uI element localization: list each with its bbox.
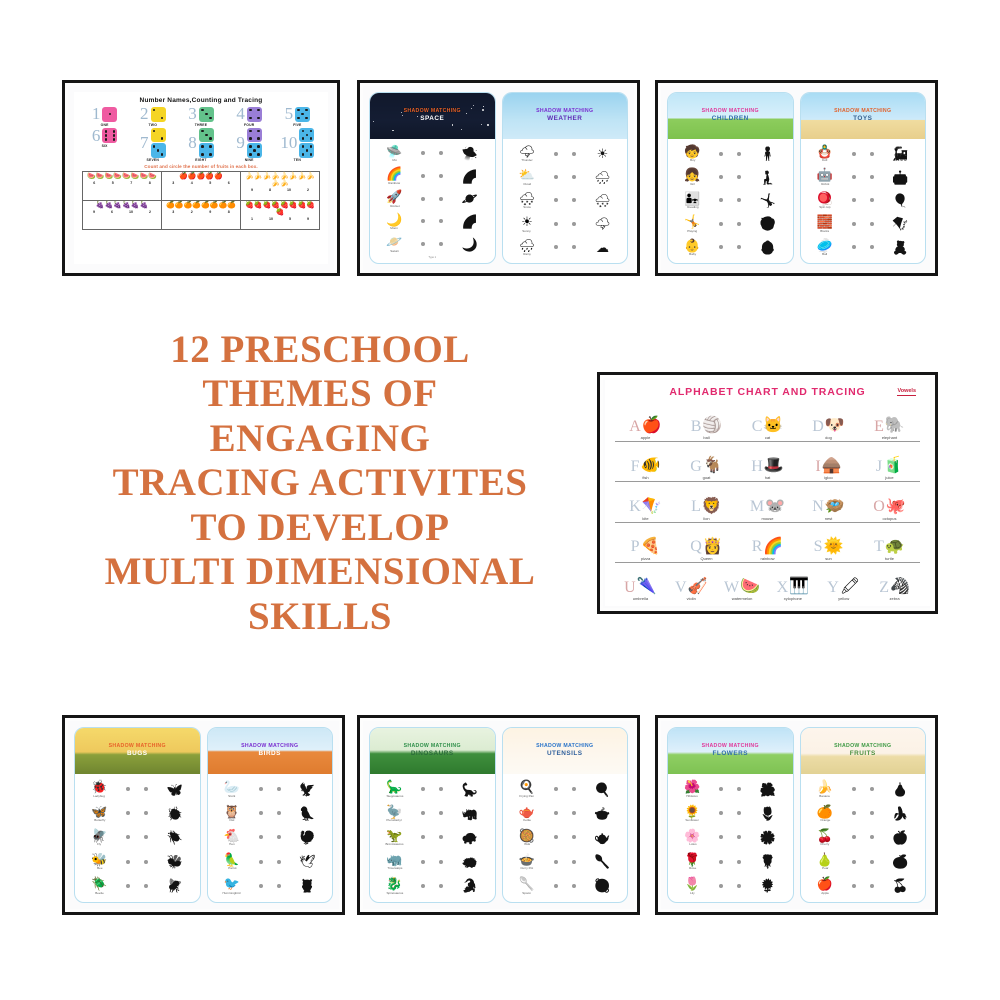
connect-dot-left[interactable] [421,835,425,839]
picture-cell[interactable]: 🥄Spoon [508,877,547,895]
picture-cell[interactable]: 🦕Stegosaurus [375,780,414,798]
shadow-cell[interactable]: 🪐 [451,192,490,205]
alphabet-item-m[interactable]: M🐭mouse [737,499,798,521]
counting-options[interactable]: 3298 [164,210,238,214]
trace-letter[interactable]: O [873,500,885,514]
connect-dot-left[interactable] [259,787,263,791]
matching-row[interactable]: 🥘Wok🫖 [508,826,623,849]
counting-option[interactable]: 6 [111,210,113,214]
picture-cell[interactable]: 🌩Thunder [508,145,547,163]
picture-cell[interactable]: 🌙Moon [375,213,414,231]
connect-dot-left[interactable] [554,222,558,226]
connect-dot-left[interactable] [719,884,723,888]
trace-letter[interactable]: K [629,500,641,514]
connect-dot-left[interactable] [259,860,263,864]
trace-letter[interactable]: X [777,581,789,595]
counting-option[interactable]: 9 [209,210,211,214]
trace-letter[interactable]: T [874,540,884,554]
connect-dot-left[interactable] [719,787,723,791]
matching-row[interactable]: 🧱Blocks🪁 [806,213,921,235]
matching-row[interactable]: 🌺Hibiscus🌺 [673,778,788,801]
matching-row[interactable]: 🥏Ball🧸 [806,236,921,258]
shadow-cell[interactable]: 🌩 [583,217,622,230]
matching-row[interactable]: 🌹Rose🌹 [673,850,788,873]
connect-dot-right[interactable] [572,222,576,226]
connect-dot-right[interactable] [572,884,576,888]
shadow-cell[interactable]: 🦉 [288,879,327,892]
connect-dot-left[interactable] [852,175,856,179]
connect-dot-left[interactable] [852,884,856,888]
picture-cell[interactable]: 🍒Cherry [806,829,845,847]
counting-box-apple[interactable]: 🍎🍎🍎🍎🍎3456 [162,172,241,201]
picture-cell[interactable]: 🪆Doll [806,145,845,163]
shadow-cell[interactable]: 🌈 [451,170,490,183]
shadow-cell[interactable]: 🦏 [451,807,490,820]
matching-row[interactable]: 🐉Spinosaurus🐊 [375,874,490,897]
shadow-cell[interactable]: 🛸 [451,147,490,160]
shadow-cell[interactable]: ☀ [583,147,622,160]
picture-cell[interactable]: 🦖Brontosaurus [375,829,414,847]
connect-dot-left[interactable] [554,198,558,202]
picture-cell[interactable]: 🛸Ufo [375,145,414,163]
connect-dot-left[interactable] [852,198,856,202]
connect-dot-left[interactable] [719,245,723,249]
trace-letter[interactable]: A [629,420,641,434]
connect-dot-right[interactable] [277,787,281,791]
connect-dot-right[interactable] [439,219,443,223]
matching-row[interactable]: 🐝Bee🐝 [80,850,195,873]
picture-cell[interactable]: 👧Girl [673,168,712,186]
matching-row[interactable]: 🦖Brontosaurus🐢 [375,826,490,849]
connect-dot-right[interactable] [439,835,443,839]
connect-dot-right[interactable] [439,860,443,864]
alphabet-item-y[interactable]: Y🖍yellow [818,579,869,601]
connect-dot-left[interactable] [719,222,723,226]
alphabet-item-d[interactable]: D🐶dog [798,418,859,440]
connect-dot-right[interactable] [572,152,576,156]
shadow-cell[interactable]: 🧍 [749,147,788,160]
connect-dot-right[interactable] [737,884,741,888]
connect-dot-right[interactable] [439,151,443,155]
matching-row[interactable]: 🌨Snow🌨 [508,189,623,211]
connect-dot-left[interactable] [421,151,425,155]
shadow-cell[interactable]: 🦜 [288,807,327,820]
connect-dot-left[interactable] [421,242,425,246]
shadow-cell[interactable]: 🍲 [583,807,622,820]
connect-dot-right[interactable] [870,245,874,249]
counting-box-banana[interactable]: 🍌🍌🍌🍌🍌🍌🍌🍌🍌🍌98102 [241,172,320,201]
picture-cell[interactable]: 🌺Hibiscus [673,780,712,798]
shadow-cell[interactable]: 🌹 [749,855,788,868]
picture-cell[interactable]: 👨‍👧Reading [673,192,712,210]
matching-row[interactable]: ⛅Cloud🌧 [508,166,623,188]
trace-letter[interactable]: F [631,460,640,474]
picture-cell[interactable]: 🪰Fly [80,829,119,847]
trace-letter[interactable]: L [691,500,701,514]
picture-cell[interactable]: 🌈Rainbow [375,167,414,185]
connect-dot-right[interactable] [737,245,741,249]
counting-option[interactable]: 5 [289,217,291,221]
shadow-cell[interactable]: 🧎 [749,171,788,184]
matching-row[interactable]: 🐦Hummingbird🦉 [213,874,328,897]
connect-dot-left[interactable] [852,860,856,864]
connect-dot-left[interactable] [421,219,425,223]
counting-options[interactable]: 96102 [85,210,159,214]
alphabet-item-o[interactable]: O🐙octopus [859,499,920,521]
counting-option[interactable]: 6 [228,181,230,185]
picture-cell[interactable]: 🍌Banana [806,780,845,798]
shadow-cell[interactable]: 🍐 [881,783,920,796]
alphabet-item-u[interactable]: U🌂umbrella [615,579,666,601]
picture-cell[interactable]: 🌷Lily [673,877,712,895]
picture-cell[interactable]: 🌹Rose [673,853,712,871]
picture-cell[interactable]: 🥘Wok [508,829,547,847]
picture-cell[interactable]: 🐝Bee [80,853,119,871]
shadow-cell[interactable]: 🪲 [156,831,195,844]
shadow-cell[interactable]: 🌈 [451,215,490,228]
matching-row[interactable]: 🛸Ufo🛸 [375,142,490,164]
connect-dot-left[interactable] [554,245,558,249]
trace-letter[interactable]: E [874,420,884,434]
counting-option[interactable]: 1 [251,217,253,221]
counting-option[interactable]: 9 [307,217,309,221]
number-cell-four[interactable]: 4FOUR [227,106,272,127]
shadow-cell[interactable]: 🥘 [583,879,622,892]
matching-row[interactable]: 🚀Rocket🪐 [375,188,490,210]
connect-dot-left[interactable] [421,197,425,201]
counting-option[interactable]: 7 [130,181,132,185]
matching-row[interactable]: 🪐Saturn🌙 [375,233,490,255]
connect-dot-right[interactable] [737,175,741,179]
shadow-cell[interactable]: 🐝 [156,855,195,868]
worksheet-birds[interactable]: SHADOW MATCHINGBIRDS🦢Stork🦅🦉Owl🦜🐔Hen🦃🦜Pa… [207,727,334,903]
connect-dot-right[interactable] [870,860,874,864]
shadow-cell[interactable]: 🚂 [881,147,920,160]
connect-dot-left[interactable] [852,835,856,839]
picture-cell[interactable]: 🪲Beetle [80,877,119,895]
picture-cell[interactable]: ⛅Cloud [508,168,547,186]
matching-row[interactable]: 🍳Frying Pan🍳 [508,778,623,801]
picture-cell[interactable]: 🦉Owl [213,805,252,823]
worksheet-dinosaurs[interactable]: SHADOW MATCHINGDINOSAURS🦕Stegosaurus🦕🦤Pt… [369,727,496,903]
matching-row[interactable]: ☀Sunny🌩 [508,213,623,235]
shadow-cell[interactable]: 🧒 [749,217,788,230]
counting-options[interactable]: 3456 [164,181,238,185]
counting-option[interactable]: 3 [172,181,174,185]
trace-letter[interactable]: P [631,540,640,554]
picture-cell[interactable]: 🌻Sunflower [673,805,712,823]
connect-dot-right[interactable] [572,245,576,249]
connect-dot-left[interactable] [126,835,130,839]
alphabet-item-k[interactable]: K🪁kite [615,499,676,521]
shadow-cell[interactable]: 🌼 [749,831,788,844]
connect-dot-left[interactable] [852,787,856,791]
shadow-cell[interactable]: 🐊 [451,879,490,892]
trace-digit[interactable]: 9 [236,135,245,151]
counting-option[interactable]: 2 [307,188,309,192]
picture-cell[interactable]: 🍐Pear [806,853,845,871]
connect-dot-right[interactable] [737,860,741,864]
connect-dot-left[interactable] [554,860,558,864]
alphabet-item-f[interactable]: F🐠fish [615,458,676,480]
connect-dot-right[interactable] [870,811,874,815]
connect-dot-right[interactable] [870,884,874,888]
trace-letter[interactable]: G [690,460,702,474]
alphabet-item-j[interactable]: J🧃juice [859,458,920,480]
connect-dot-right[interactable] [439,197,443,201]
shadow-cell[interactable]: 🌻 [749,879,788,892]
number-cell-ten[interactable]: 10TEN [275,128,320,163]
matching-row[interactable]: 🦉Owl🦜 [213,802,328,825]
connect-dot-left[interactable] [852,811,856,815]
counting-option[interactable]: 8 [269,188,271,192]
matching-row[interactable]: 🌈Rainbow🌈 [375,165,490,187]
counting-options[interactable]: 6578 [85,181,159,185]
connect-dot-left[interactable] [421,174,425,178]
number-cell-two[interactable]: 2TWO [130,106,175,127]
alphabet-item-g[interactable]: G🐐goat [676,458,737,480]
connect-dot-right[interactable] [870,835,874,839]
picture-cell[interactable]: 🧒Boy [673,145,712,163]
connect-dot-right[interactable] [870,152,874,156]
connect-dot-left[interactable] [554,787,558,791]
matching-row[interactable]: 🦢Stork🦅 [213,778,328,801]
alphabet-item-s[interactable]: S🌞sun [798,539,859,561]
connect-dot-right[interactable] [144,884,148,888]
trace-letter[interactable]: W [724,581,739,595]
counting-option[interactable]: 5 [209,181,211,185]
picture-cell[interactable]: 🪀Spin top [806,192,845,210]
worksheet-space[interactable]: SHADOW MATCHINGSPACE🛸Ufo🛸🌈Rainbow🌈🚀Rocke… [369,92,496,264]
trace-letter[interactable]: U [624,581,636,595]
trace-digit[interactable]: 2 [140,106,149,122]
trace-digit[interactable]: 10 [280,135,297,151]
matching-row[interactable]: 🥄Spoon🥘 [508,874,623,897]
connect-dot-left[interactable] [421,811,425,815]
matching-row[interactable]: 👧Girl🧎 [673,166,788,188]
matching-row[interactable]: 🤖Robot🤖 [806,166,921,188]
matching-row[interactable]: 🦏Triceratops🦔 [375,850,490,873]
alphabet-chart[interactable]: ALPHABET CHART AND TRACING Vowels A🍎appl… [605,380,930,606]
matching-row[interactable]: 🍲Curry Pot🥄 [508,850,623,873]
connect-dot-left[interactable] [852,245,856,249]
number-cell-nine[interactable]: 9NINE [227,128,272,163]
connect-dot-left[interactable] [719,811,723,815]
picture-cell[interactable]: 🌸Lotus [673,829,712,847]
matching-row[interactable]: 🌸Lotus🌼 [673,826,788,849]
connect-dot-left[interactable] [554,175,558,179]
shadow-cell[interactable]: 🧸 [881,241,920,254]
connect-dot-right[interactable] [870,175,874,179]
matching-row[interactable]: 🍌Banana🍐 [806,778,921,801]
picture-cell[interactable]: 🪐Saturn [375,235,414,253]
connect-dot-right[interactable] [439,242,443,246]
connect-dot-right[interactable] [439,884,443,888]
connect-dot-left[interactable] [719,860,723,864]
picture-cell[interactable]: 🌨Snow [508,192,547,210]
matching-row[interactable]: 🌙Moon🌈 [375,210,490,232]
connect-dot-left[interactable] [259,835,263,839]
connect-dot-left[interactable] [126,811,130,815]
counting-option[interactable]: 2 [191,210,193,214]
picture-cell[interactable]: 🚀Rocket [375,190,414,208]
connect-dot-left[interactable] [719,198,723,202]
shadow-cell[interactable]: 🍒 [881,879,920,892]
number-cell-three[interactable]: 3THREE [178,106,223,127]
shadow-cell[interactable]: 🪁 [881,217,920,230]
connect-dot-right[interactable] [870,222,874,226]
alphabet-item-n[interactable]: N🪺nest [798,499,859,521]
counting-option[interactable]: 10 [269,217,273,221]
counting-options[interactable]: 98102 [243,188,317,192]
connect-dot-right[interactable] [572,175,576,179]
connect-dot-left[interactable] [554,884,558,888]
alphabet-item-l[interactable]: L🦁lion [676,499,737,521]
shadow-cell[interactable]: 🍳 [583,783,622,796]
counting-option[interactable]: 9 [251,188,253,192]
connect-dot-left[interactable] [126,787,130,791]
shadow-cell[interactable]: 🍌 [881,807,920,820]
connect-dot-right[interactable] [737,198,741,202]
matching-row[interactable]: 🧒Boy🧍 [673,143,788,165]
trace-letter[interactable]: D [812,420,824,434]
shadow-cell[interactable]: ☁ [583,241,622,254]
counting-table[interactable]: 🍉🍉🍉🍉🍉🍉🍉🍉6578🍎🍎🍎🍎🍎3456🍌🍌🍌🍌🍌🍌🍌🍌🍌🍌98102🍇🍇🍇🍇… [82,171,320,230]
worksheet-flowers[interactable]: SHADOW MATCHINGFLOWERS🌺Hibiscus🌺🌻Sunflow… [667,727,794,903]
counting-options[interactable]: 11059 [243,217,317,221]
connect-dot-right[interactable] [439,787,443,791]
matching-row[interactable]: 🦜Parrot🕊 [213,850,328,873]
picture-cell[interactable]: 🍳Frying Pan [508,780,547,798]
connect-dot-left[interactable] [126,860,130,864]
trace-digit[interactable]: 1 [92,106,101,122]
trace-letter[interactable]: J [876,460,882,474]
alphabet-item-q[interactable]: Q👸Queen [676,539,737,561]
shadow-cell[interactable]: 🌷 [749,807,788,820]
matching-row[interactable]: 👨‍👧Reading🤸 [673,189,788,211]
shadow-cell[interactable]: 🕊 [288,855,327,868]
counting-option[interactable]: 8 [149,181,151,185]
matching-row[interactable]: 🫖Kettle🍲 [508,802,623,825]
number-cell-eight[interactable]: 8EIGHT [178,128,223,163]
trace-letter[interactable]: Z [879,581,889,595]
trace-letter[interactable]: B [691,420,702,434]
matching-row[interactable]: 🌷Lily🌻 [673,874,788,897]
connect-dot-right[interactable] [144,835,148,839]
connect-dot-right[interactable] [277,811,281,815]
connect-dot-right[interactable] [277,884,281,888]
number-cell-seven[interactable]: 7SEVEN [130,128,175,163]
counting-option[interactable]: 5 [112,181,114,185]
matching-row[interactable]: 🐔Hen🦃 [213,826,328,849]
trace-digit[interactable]: 3 [188,106,197,122]
shadow-cell[interactable]: 🌧 [583,171,622,184]
shadow-cell[interactable]: 🦅 [288,783,327,796]
trace-letter[interactable]: R [752,540,763,554]
picture-cell[interactable]: 🦜Parrot [213,853,252,871]
alphabet-item-z[interactable]: Z🦓zebra [869,579,920,601]
matching-row[interactable]: 🤸Playing🧒 [673,213,788,235]
trace-digit[interactable]: 8 [188,135,197,151]
connect-dot-left[interactable] [554,835,558,839]
trace-letter[interactable]: M [750,500,764,514]
connect-dot-left[interactable] [852,222,856,226]
matching-row[interactable]: 🍊Orange🍌 [806,802,921,825]
worksheet-bugs[interactable]: SHADOW MATCHINGBUGS🐞Ladybug🦋🦋Butterfly🐞🪰… [74,727,201,903]
shadow-cell[interactable]: 🌙 [451,238,490,251]
matching-row[interactable]: 🍎Apple🍒 [806,874,921,897]
connect-dot-left[interactable] [554,811,558,815]
shadow-cell[interactable]: 🦔 [451,855,490,868]
matching-row[interactable]: 🦕Stegosaurus🦕 [375,778,490,801]
alphabet-item-c[interactable]: C🐱cat [737,418,798,440]
connect-dot-right[interactable] [277,860,281,864]
connect-dot-left[interactable] [259,884,263,888]
trace-letter[interactable]: C [752,420,763,434]
shadow-cell[interactable]: 🦃 [288,831,327,844]
connect-dot-left[interactable] [421,860,425,864]
shadow-cell[interactable]: 🥄 [583,855,622,868]
number-cell-one[interactable]: 1ONE [82,106,127,127]
connect-dot-right[interactable] [277,835,281,839]
shadow-cell[interactable]: 🦋 [156,783,195,796]
picture-cell[interactable]: 🐉Spinosaurus [375,877,414,895]
picture-cell[interactable]: 🍊Orange [806,805,845,823]
alphabet-item-h[interactable]: H🎩hat [737,458,798,480]
alphabet-item-e[interactable]: E🐘elephant [859,418,920,440]
worksheet-fruits[interactable]: SHADOW MATCHINGFRUITS🍌Banana🍐🍊Orange🍌🍒Ch… [800,727,927,903]
connect-dot-right[interactable] [144,811,148,815]
matching-row[interactable]: 👶Baby👶 [673,236,788,258]
picture-cell[interactable]: 🦤Pterodactyl [375,805,414,823]
alphabet-item-r[interactable]: R🌈rainbow [737,539,798,561]
shadow-cell[interactable]: 👶 [749,241,788,254]
matching-row[interactable]: 🦋Butterfly🐞 [80,802,195,825]
picture-cell[interactable]: 🥏Ball [806,239,845,257]
alphabet-item-a[interactable]: A🍎apple [615,418,676,440]
trace-digit[interactable]: 5 [285,106,294,122]
numbers-worksheet[interactable]: Number Names,Counting and Tracing 1ONE2T… [74,92,328,264]
connect-dot-right[interactable] [144,860,148,864]
worksheet-children[interactable]: SHADOW MATCHINGCHILDREN🧒Boy🧍👧Girl🧎👨‍👧Rea… [667,92,794,264]
connect-dot-left[interactable] [259,811,263,815]
matching-row[interactable]: 🌧Rainy☁ [508,236,623,258]
picture-cell[interactable]: 🦏Triceratops [375,853,414,871]
connect-dot-left[interactable] [719,152,723,156]
shadow-cell[interactable]: 🌨 [583,194,622,207]
connect-dot-left[interactable] [719,175,723,179]
alphabet-item-i[interactable]: I🛖igloo [798,458,859,480]
counting-option[interactable]: 6 [93,181,95,185]
trace-digit[interactable]: 4 [236,106,245,122]
connect-dot-right[interactable] [572,198,576,202]
picture-cell[interactable]: 🧱Blocks [806,215,845,233]
alphabet-item-b[interactable]: B🏐ball [676,418,737,440]
connect-dot-right[interactable] [572,860,576,864]
shadow-cell[interactable]: 🦕 [451,783,490,796]
connect-dot-left[interactable] [719,835,723,839]
trace-letter[interactable]: H [751,460,763,474]
connect-dot-left[interactable] [421,787,425,791]
shadow-cell[interactable]: 🌺 [749,783,788,796]
picture-cell[interactable]: 🍎Apple [806,877,845,895]
connect-dot-right[interactable] [572,787,576,791]
alphabet-item-t[interactable]: T🐢turtle [859,539,920,561]
connect-dot-left[interactable] [421,884,425,888]
counting-option[interactable]: 8 [228,210,230,214]
picture-cell[interactable]: 🤸Playing [673,215,712,233]
alphabet-item-x[interactable]: X🎹xylophone [767,579,818,601]
